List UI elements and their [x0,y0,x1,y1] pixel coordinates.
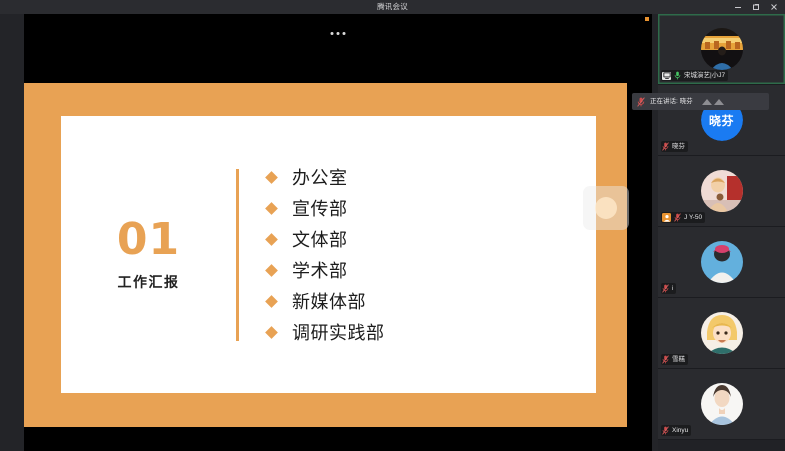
screen-share-icon [663,72,671,79]
participant-tile[interactable]: i [658,227,785,298]
diamond-bullet-icon [265,326,278,339]
maximize-icon [752,3,760,11]
slide-number: 01 [61,218,236,262]
active-speaker-banner: 正在讲话: 晓芬 [632,93,769,110]
dot [331,32,334,35]
avatar [701,170,743,212]
participant-name-row: Xinyu [661,425,691,436]
slide-bullet-label: 调研实践部 [292,319,385,345]
slide-bullet-label: 新媒体部 [292,288,366,314]
slide-bullet-label: 文体部 [292,226,348,252]
diamond-bullet-icon [265,295,278,308]
slide-bullet-item: 学术部 [267,255,596,286]
maximize-button[interactable] [747,0,765,14]
mic-muted-indicator [662,355,669,364]
host-badge [662,213,671,222]
more-options-icon[interactable] [331,32,346,35]
mic-muted-indicator [662,284,669,293]
annotation-handle-button[interactable] [583,186,629,230]
slide-content-area: 01 工作汇报 办公室宣传部文体部学术部新媒体部调研实践部 [61,116,596,393]
mic-muted-icon [662,355,669,364]
participant-photo [701,383,743,425]
avatar [701,312,743,354]
participant-name: Xinyu [672,426,688,435]
mic-muted-indicator [674,213,681,222]
avatar [701,241,743,283]
window-title: 腾讯会议 [377,0,408,14]
participant-name-row: J Y-50 [661,212,705,223]
mic-muted-icon [637,97,645,107]
minimize-button[interactable] [729,0,747,14]
participant-name-row: 雪糕 [661,354,688,365]
participant-photo [701,312,743,354]
diamond-bullet-icon [265,202,278,215]
participant-name: 宋城演艺|小J7 [684,71,725,80]
mic-muted-icon [662,142,669,151]
participant-name-row: i [661,283,676,294]
diamond-bullet-icon [265,233,278,246]
slide-bullet-list: 办公室宣传部文体部学术部新媒体部调研实践部 [267,162,596,348]
participant-name-row: 宋城演艺|小J7 [661,70,728,81]
screen-share-marker [645,17,649,21]
screen-share-badge [662,72,671,80]
active-speaker-text: 正在讲话: 晓芬 [650,93,693,110]
participant-video-strip[interactable]: 宋城演艺|小J7晓芬晓芬J Y-50i雪糕Xinyu [658,14,785,451]
audio-wave-icon [702,99,724,105]
close-icon [770,3,778,11]
diamond-bullet-icon [265,264,278,277]
participant-name: i [672,284,673,293]
slide-bullet-label: 办公室 [292,164,348,190]
wave-bar [714,99,724,105]
slide-subtitle: 工作汇报 [61,272,236,292]
participant-name: J Y-50 [684,213,702,222]
participant-tile[interactable]: 雪糕 [658,298,785,369]
participant-tile[interactable]: J Y-50 [658,156,785,227]
slide-section-label: 01 工作汇报 [61,218,236,292]
shared-screen-stage[interactable]: 01 工作汇报 办公室宣传部文体部学术部新媒体部调研实践部 [24,14,652,451]
slide-bullet-label: 宣传部 [292,195,348,221]
participant-name: 晓芬 [672,142,685,151]
avatar [701,28,743,70]
slide-bullet-item: 办公室 [267,162,596,193]
diamond-bullet-icon [265,171,278,184]
presentation-slide: 01 工作汇报 办公室宣传部文体部学术部新媒体部调研实践部 [24,83,627,427]
slide-bullet-label: 学术部 [292,257,348,283]
participant-tile[interactable]: 宋城演艺|小J7 [658,14,785,85]
participant-name: 雪糕 [672,355,685,364]
mic-muted-indicator [662,426,669,435]
avatar [701,383,743,425]
close-button[interactable] [765,0,783,14]
dot [343,32,346,35]
mic-on-icon [674,71,681,80]
dot [337,32,340,35]
mic-muted-icon [662,284,669,293]
mic-on-indicator [674,71,681,80]
mic-muted-icon [662,426,669,435]
host-icon [663,214,671,222]
participant-photo [701,28,743,70]
participant-photo [701,170,743,212]
participant-name-row: 晓芬 [661,141,688,152]
slide-bullet-item: 调研实践部 [267,317,596,348]
participant-tile[interactable]: Xinyu [658,369,785,440]
slide-bullet-item: 宣传部 [267,193,596,224]
annotation-handle-knob [595,197,617,219]
mic-muted-icon [674,213,681,222]
slide-bullet-item: 新媒体部 [267,286,596,317]
window-controls [729,0,783,14]
minimize-icon [734,3,742,11]
participant-photo [701,241,743,283]
tencent-meeting-window: 腾讯会议 01 工作汇报 [0,0,785,451]
title-bar: 腾讯会议 [0,0,785,14]
wave-bar [702,99,712,105]
mic-muted-indicator [662,142,669,151]
slide-vertical-divider [236,169,239,341]
slide-bullet-item: 文体部 [267,224,596,255]
